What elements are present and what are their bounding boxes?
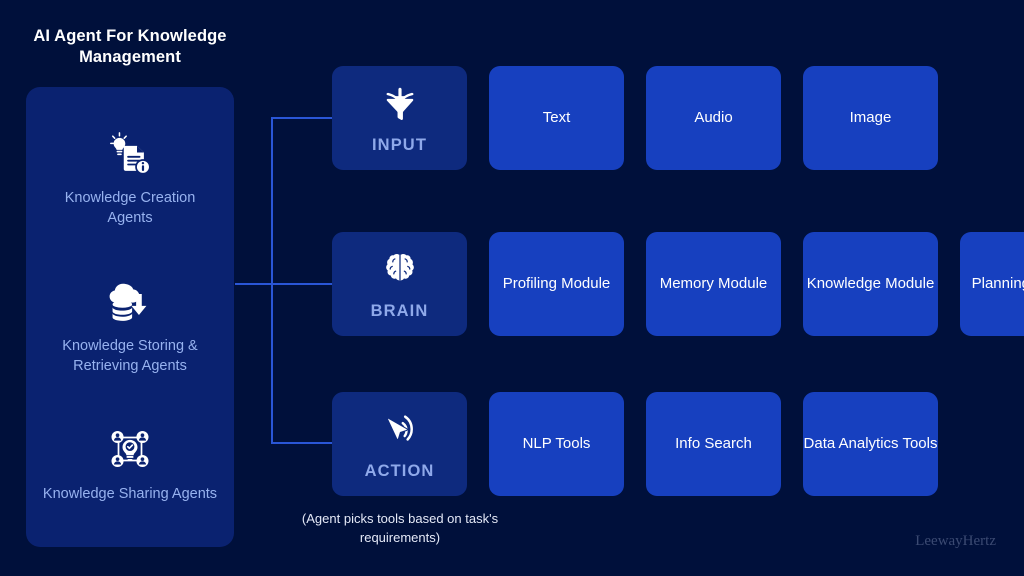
- connector-to-input: [271, 117, 333, 119]
- card-brain-memory[interactable]: Memory Module: [646, 232, 781, 336]
- page-title: AI Agent For Knowledge Management: [24, 26, 236, 68]
- action-caption: (Agent picks tools based on task's requi…: [288, 510, 512, 548]
- agents-sidebar: Knowledge Creation Agents Knowledge Stor…: [26, 87, 234, 547]
- card-input-image[interactable]: Image: [803, 66, 938, 170]
- row-input: INPUT Text Audio Image: [332, 66, 938, 170]
- card-input-audio[interactable]: Audio: [646, 66, 781, 170]
- cloud-database-download-icon: [107, 278, 153, 324]
- connector-to-action: [271, 442, 333, 444]
- card-action[interactable]: ACTION: [332, 392, 467, 496]
- sidebar-item-knowledge-sharing[interactable]: Knowledge Sharing Agents: [26, 426, 234, 505]
- diagram-canvas: AI Agent For Knowledge Management: [0, 0, 1024, 576]
- watermark-logo: LeewayHertz: [915, 533, 996, 550]
- card-brain-profiling[interactable]: Profiling Module: [489, 232, 624, 336]
- card-brain-planning[interactable]: Planning Module: [960, 232, 1024, 336]
- card-input-label: INPUT: [372, 135, 427, 157]
- card-input[interactable]: INPUT: [332, 66, 467, 170]
- card-brain[interactable]: BRAIN: [332, 232, 467, 336]
- connector-vertical: [271, 118, 273, 444]
- card-action-info-search[interactable]: Info Search: [646, 392, 781, 496]
- card-brain-knowledge[interactable]: Knowledge Module: [803, 232, 938, 336]
- card-input-text[interactable]: Text: [489, 66, 624, 170]
- funnel-download-icon: [381, 85, 419, 123]
- card-brain-label: BRAIN: [371, 301, 429, 323]
- card-action-label: ACTION: [365, 461, 435, 483]
- row-action: ACTION NLP Tools Info Search Data Analyt…: [332, 392, 938, 496]
- row-brain: BRAIN Profiling Module Memory Module Kno…: [332, 232, 1024, 336]
- connector-to-brain: [235, 283, 333, 285]
- lightbulb-document-info-icon: [107, 130, 153, 176]
- card-action-data-analytics[interactable]: Data Analytics Tools: [803, 392, 938, 496]
- card-action-nlp-tools[interactable]: NLP Tools: [489, 392, 624, 496]
- cursor-click-icon: [381, 411, 419, 449]
- sidebar-item-knowledge-storing-retrieving[interactable]: Knowledge Storing & Retrieving Agents: [26, 278, 234, 377]
- sidebar-item-knowledge-creation[interactable]: Knowledge Creation Agents: [26, 130, 234, 229]
- users-network-lightbulb-icon: [107, 426, 153, 472]
- brain-icon: [381, 251, 419, 289]
- sidebar-item-label: Knowledge Storing & Retrieving Agents: [43, 336, 218, 377]
- sidebar-item-label: Knowledge Sharing Agents: [43, 484, 218, 505]
- sidebar-item-label: Knowledge Creation Agents: [43, 188, 218, 229]
